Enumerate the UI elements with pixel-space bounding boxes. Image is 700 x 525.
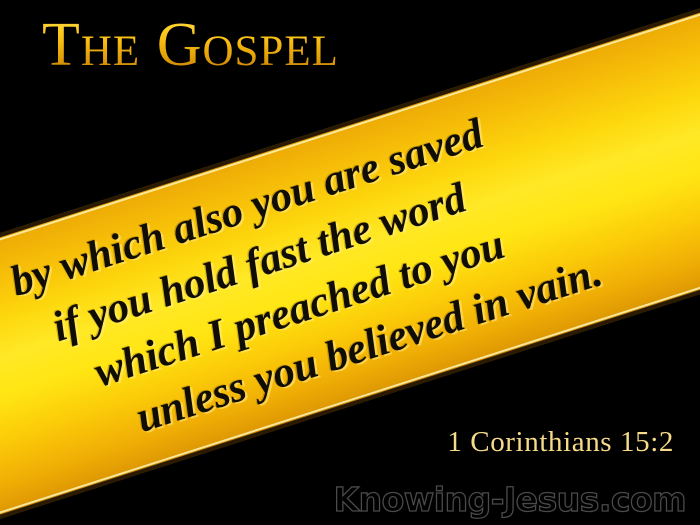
verse-line-3: which I preached to you: [87, 110, 700, 401]
site-watermark: Knowing-Jesus.com: [334, 480, 686, 519]
verse-line-4: unless you believed in vain.: [129, 163, 700, 446]
banner-bottom-pinstripe: [0, 218, 700, 525]
verse-line-2: if you hold fast the word: [46, 57, 700, 356]
verse-image-canvas: The Gospel by which also you are saved i…: [0, 0, 700, 525]
page-title: The Gospel: [42, 14, 339, 76]
scripture-reference: 1 Corinthians 15:2: [447, 426, 674, 459]
